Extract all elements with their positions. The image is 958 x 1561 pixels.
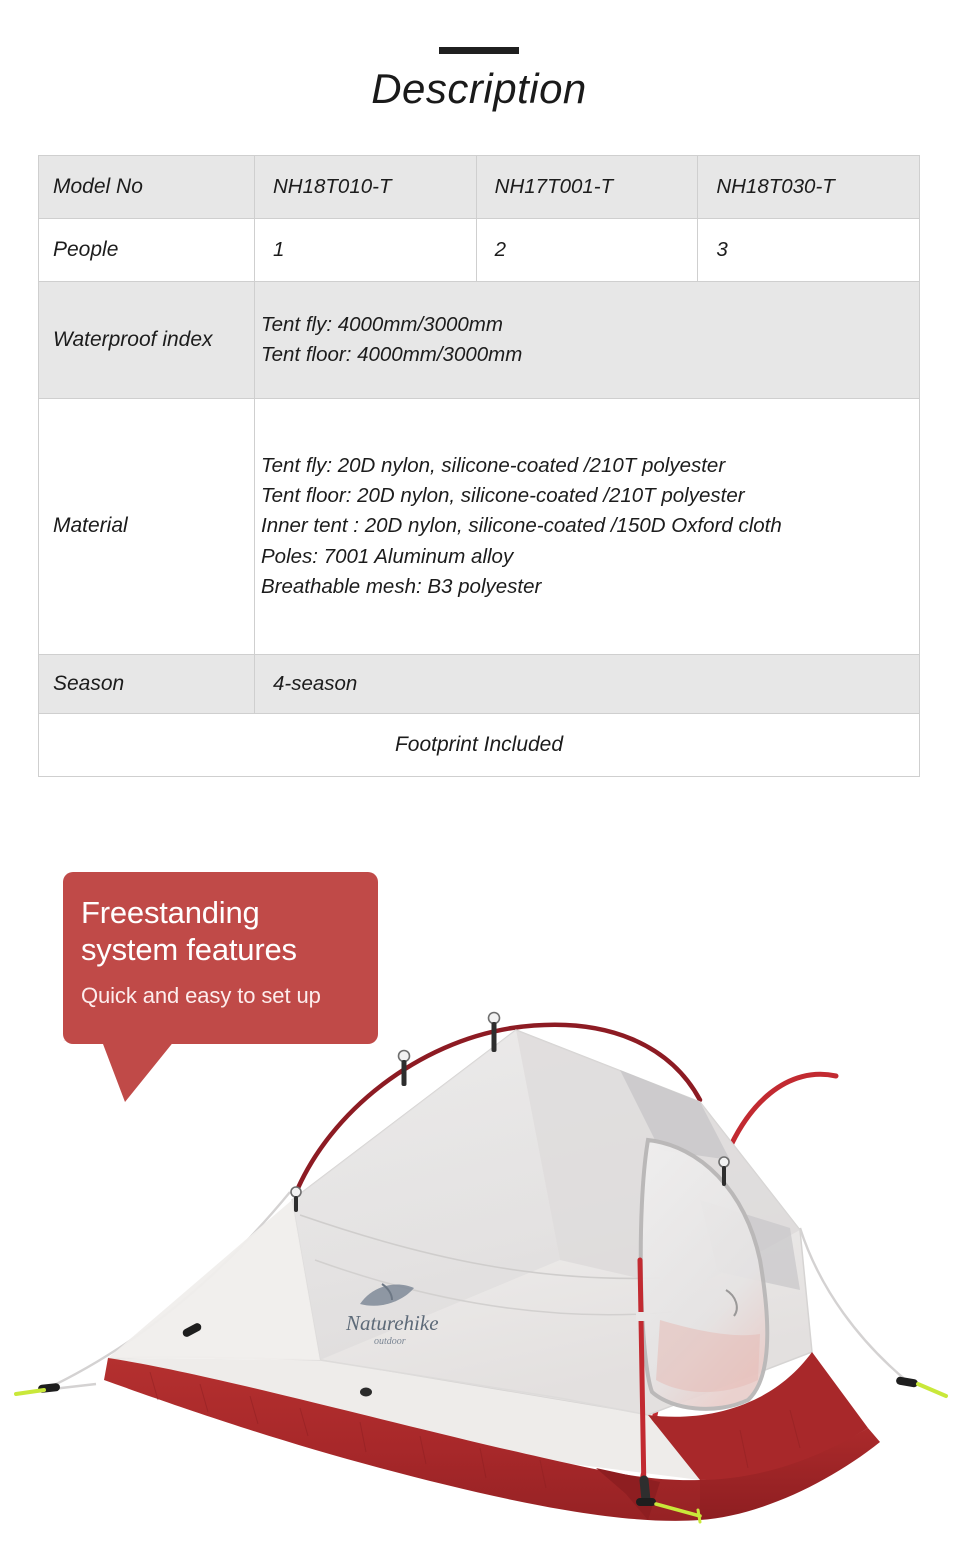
stake-left <box>16 1383 96 1394</box>
cell-model-no-2: NH17T001-T <box>476 156 698 219</box>
table-row-waterproof-index: Waterproof index Tent fly: 4000mm/3000mm… <box>39 282 920 399</box>
cell-model-no-3: NH18T030-T <box>698 156 920 219</box>
callout-tail <box>63 1040 193 1106</box>
table-row-people: People 1 2 3 <box>39 219 920 282</box>
brand-tagline: outdoor <box>374 1336 406 1347</box>
title-rule-divider <box>439 47 519 54</box>
cell-waterproof-index-value: Tent fly: 4000mm/3000mm Tent floor: 4000… <box>255 282 920 399</box>
callout-title: Freestanding system features <box>81 894 360 968</box>
row-label-waterproof-index: Waterproof index <box>39 282 255 399</box>
page-title: Description <box>0 68 958 110</box>
tent-left-panel <box>108 1200 320 1360</box>
skirt-buckle <box>360 1388 372 1397</box>
cell-footprint-included: Footprint Included <box>39 714 920 777</box>
table-row-season: Season 4-season <box>39 655 920 714</box>
table-row-footprint: Footprint Included <box>39 714 920 777</box>
specification-table: Model No NH18T010-T NH17T001-T NH18T030-… <box>38 155 920 777</box>
cell-material-value: Tent fly: 20D nylon, silicone-coated /21… <box>255 399 920 655</box>
stake-right <box>895 1376 946 1396</box>
cell-season-value: 4-season <box>255 655 920 714</box>
cell-people-1: 1 <box>255 219 477 282</box>
cell-people-2: 2 <box>476 219 698 282</box>
callout-bubble: Freestanding system features Quick and e… <box>63 872 378 1044</box>
row-label-model-no: Model No <box>39 156 255 219</box>
table-row-material: Material Tent fly: 20D nylon, silicone-c… <box>39 399 920 655</box>
brand-name: Naturehike <box>345 1311 439 1335</box>
cell-people-3: 3 <box>698 219 920 282</box>
row-label-people: People <box>39 219 255 282</box>
pole-sleeve-clip <box>636 1312 650 1321</box>
table-row-model-no: Model No NH18T010-T NH17T001-T NH18T030-… <box>39 156 920 219</box>
row-label-material: Material <box>39 399 255 655</box>
description-header: Description <box>0 0 958 110</box>
row-label-season: Season <box>39 655 255 714</box>
callout-subtitle: Quick and easy to set up <box>81 983 360 1009</box>
cell-model-no-1: NH18T010-T <box>255 156 477 219</box>
